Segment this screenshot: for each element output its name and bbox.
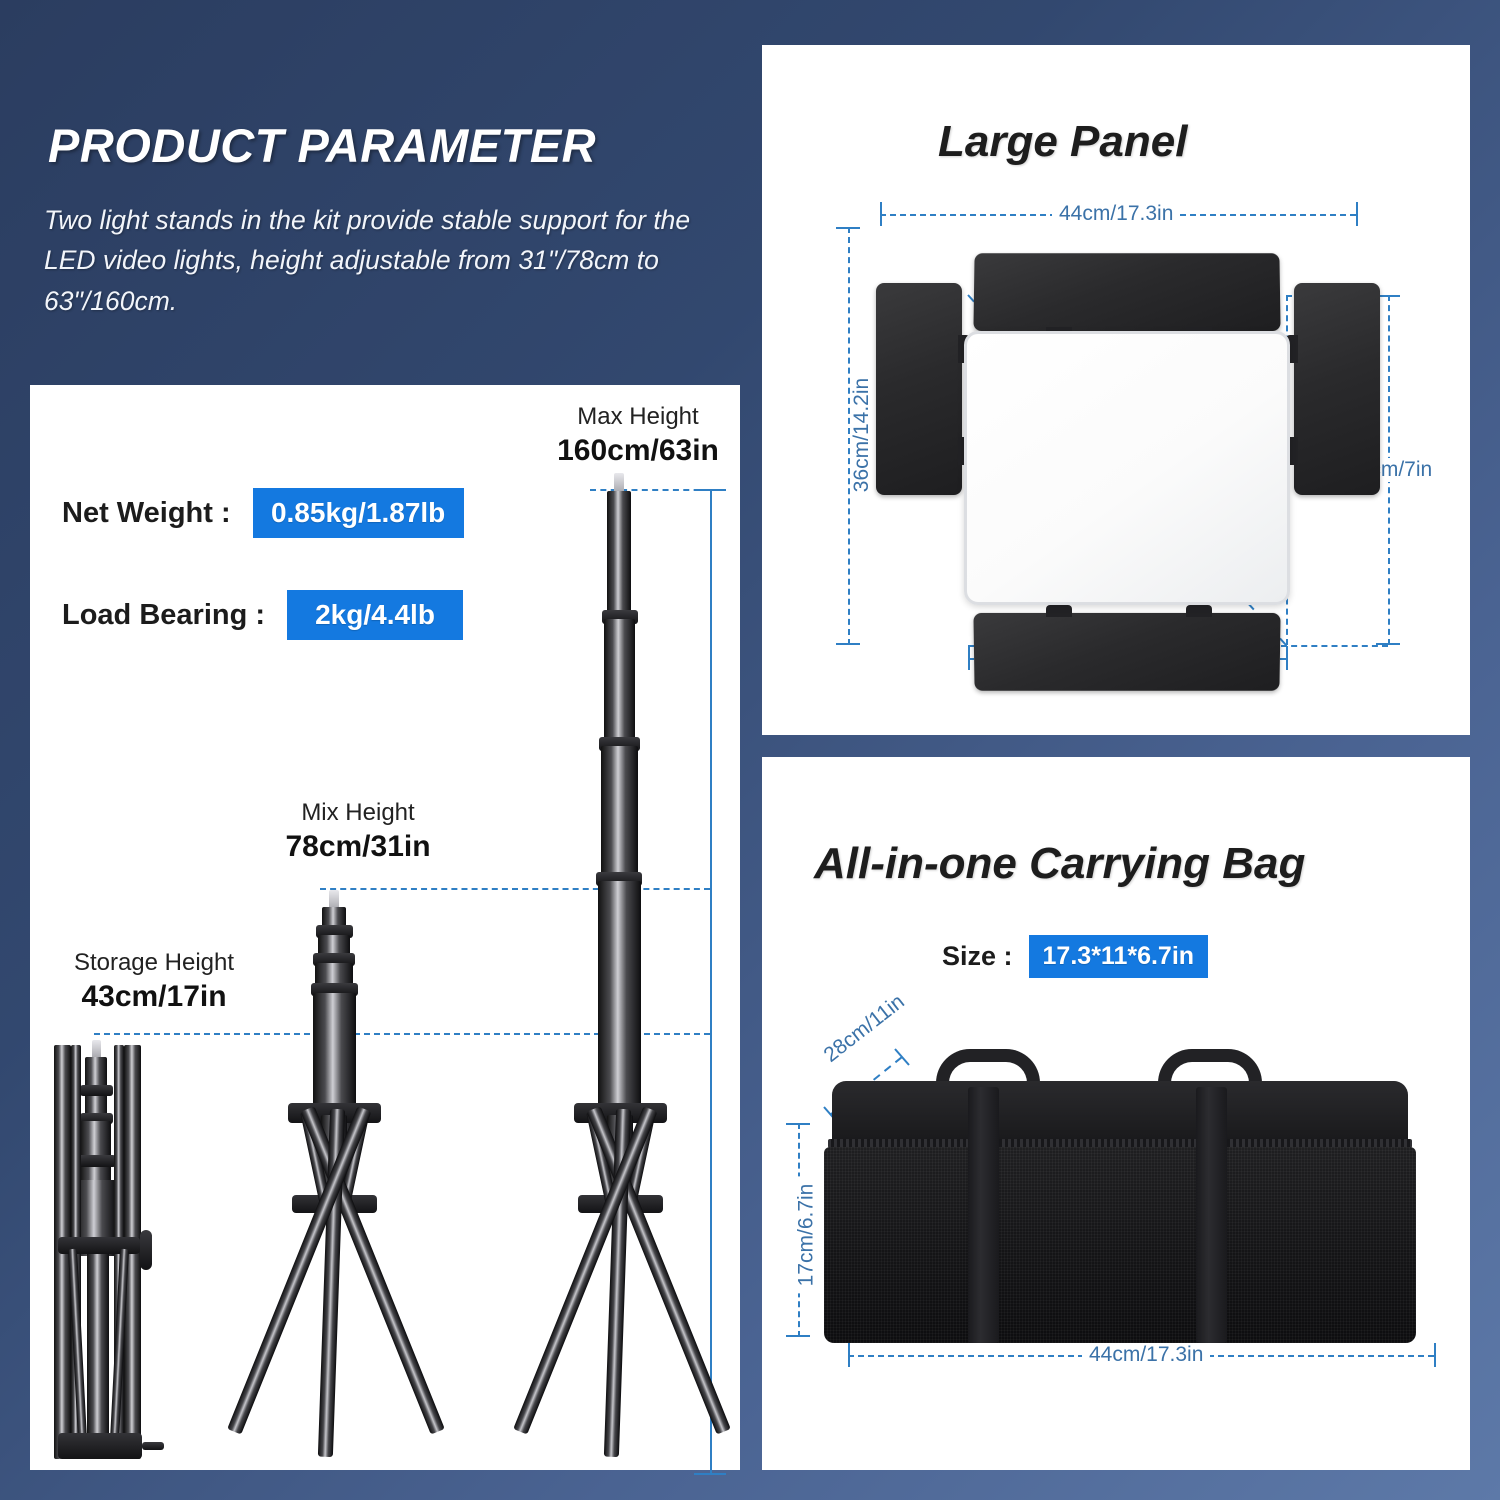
callout-max-height: Max Height 160cm/63in <box>538 402 738 470</box>
bag-body <box>824 1147 1416 1343</box>
bag-dim-depth-label: 28cm/11in <box>814 986 915 1072</box>
mix-height-guide-line <box>320 888 710 890</box>
product-parameter-panel: Net Weight : 0.85kg/1.87lb Load Bearing … <box>30 385 740 1470</box>
storage-height-value: 43cm/17in <box>44 978 264 1016</box>
net-weight-badge: 0.85kg/1.87lb <box>253 488 464 538</box>
page-title: PRODUCT PARAMETER <box>48 118 596 173</box>
bag-size-row: Size : 17.3*11*6.7in <box>942 935 1208 978</box>
bag-dim-height-cap-bottom <box>786 1335 810 1337</box>
large-panel-title: Large Panel <box>938 117 1187 167</box>
callout-storage-height: Storage Height 43cm/17in <box>44 948 264 1016</box>
bag-strap-left <box>968 1087 999 1343</box>
dim-right-cap-bottom <box>1376 643 1400 645</box>
dim-top-cap-right <box>1356 202 1358 226</box>
page-description: Two light stands in the kit provide stab… <box>44 200 744 321</box>
large-panel-section: Large Panel 44cm/17.3in 36cm/14.2in 18cm… <box>762 45 1470 735</box>
max-height-label: Max Height <box>538 402 738 432</box>
storage-height-label: Storage Height <box>44 948 264 978</box>
height-axis-cap-bottom <box>694 1473 726 1475</box>
dim-left-label: 36cm/14.2in <box>850 371 874 499</box>
load-bearing-badge: 2kg/4.4lb <box>287 590 463 640</box>
callout-mix-height: Mix Height 78cm/31in <box>258 798 458 866</box>
dim-bottom-cap-right <box>1286 646 1288 670</box>
max-height-value: 160cm/63in <box>538 432 738 470</box>
bag-dim-height-cap-top <box>786 1123 810 1125</box>
bag-lid <box>832 1081 1408 1147</box>
dim-left-cap-bottom <box>836 643 860 645</box>
bag-strap-right <box>1196 1087 1227 1343</box>
carrying-bag-title: All-in-one Carrying Bag <box>814 839 1305 889</box>
barn-door-left <box>876 283 962 495</box>
barn-door-bottom <box>973 613 1280 691</box>
bag-dim-width-cap-right <box>1434 1343 1436 1367</box>
dim-top-label: 44cm/17.3in <box>1052 202 1180 226</box>
height-axis-cap-top <box>694 489 726 491</box>
mix-height-label: Mix Height <box>258 798 458 828</box>
spec-row-load-bearing: Load Bearing : 2kg/4.4lb <box>62 590 463 640</box>
barn-door-right <box>1294 283 1380 495</box>
mix-height-value: 78cm/31in <box>258 828 458 866</box>
bag-dim-height-label: 17cm/6.7in <box>794 1177 818 1294</box>
bag-size-badge: 17.3*11*6.7in <box>1029 935 1209 978</box>
height-axis-line <box>710 489 712 1475</box>
spec-row-net-weight: Net Weight : 0.85kg/1.87lb <box>62 488 464 538</box>
dim-left-cap-top <box>836 227 860 229</box>
carrying-bag-section: All-in-one Carrying Bag Size : 17.3*11*6… <box>762 757 1470 1470</box>
barn-door-top <box>973 253 1280 331</box>
bag-dim-width-label: 44cm/17.3in <box>1082 1343 1210 1367</box>
load-bearing-label: Load Bearing : <box>62 599 265 632</box>
net-weight-label: Net Weight : <box>62 497 231 530</box>
bag-size-label: Size : <box>942 941 1013 972</box>
led-diffuser-face <box>964 331 1290 605</box>
